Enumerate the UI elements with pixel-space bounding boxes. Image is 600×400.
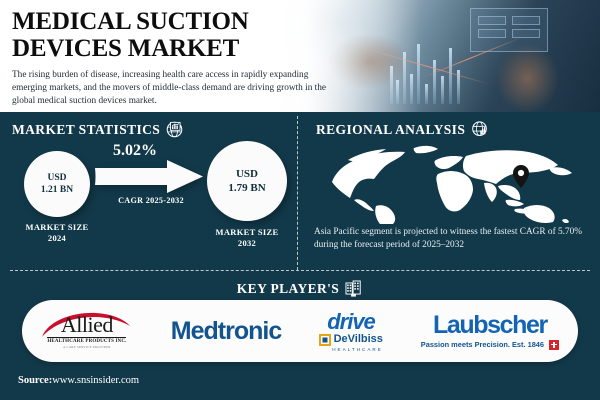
laubscher-wordmark: Laubscher	[433, 313, 547, 338]
market-size-end-caption: MARKET SIZE 2032	[197, 227, 297, 250]
start-caption-label: MARKET SIZE	[8, 222, 106, 233]
devilbiss-row: DeVilbiss	[319, 334, 383, 346]
laubscher-tagline-row: Passion meets Precision. Est. 1846	[421, 340, 559, 350]
regional-analysis-heading: REGIONAL ANALYSIS	[316, 120, 489, 139]
market-statistics-title: MARKET STATISTICS	[12, 122, 160, 138]
regional-analysis-section: REGIONAL ANALYSIS	[300, 112, 600, 272]
world-map-svg	[310, 138, 590, 224]
start-value-amount: 1.21 BN	[41, 184, 73, 196]
end-caption-year: 2032	[197, 238, 297, 249]
allied-wordmark: Allied	[61, 314, 113, 336]
header-banner: MEDICAL SUCTION DEVICES MARKET The risin…	[0, 0, 600, 112]
arrow-icon	[95, 160, 203, 194]
photo-panel	[478, 16, 506, 25]
logo-medtronic[interactable]: Medtronic	[171, 317, 281, 346]
photo-panel	[478, 29, 506, 38]
key-players-title: KEY PLAYER'S	[237, 281, 339, 297]
devilbiss-wordmark: DeVilbiss	[334, 334, 383, 345]
devilbiss-subtitle: HEALTHCARE	[332, 347, 383, 352]
laubscher-tagline: Passion meets Precision. Est. 1846	[421, 340, 544, 349]
start-caption-year: 2024	[8, 233, 106, 244]
end-value-currency: USD	[236, 167, 258, 181]
allied-subtitle: HEALTHCARE PRODUCTS INC.	[47, 337, 126, 344]
globe-chart-icon	[165, 120, 184, 139]
growth-arrow	[95, 160, 203, 194]
header-text-block: MEDICAL SUCTION DEVICES MARKET The risin…	[12, 8, 342, 109]
factory-building-icon	[344, 279, 363, 298]
photo-panel	[512, 29, 540, 38]
photo-bar	[433, 60, 436, 104]
market-size-end-circle: USD 1.79 BN	[207, 141, 287, 221]
swiss-flag-icon	[549, 340, 559, 350]
market-size-start-caption: MARKET SIZE 2024	[8, 222, 106, 245]
cagr-value: 5.02%	[100, 142, 170, 160]
page-title: MEDICAL SUCTION DEVICES MARKET	[12, 8, 342, 62]
logo-drive-devilbiss[interactable]: drive DeVilbiss HEALTHCARE	[319, 311, 383, 352]
cagr-label: CAGR 2025-2032	[92, 196, 210, 205]
photo-panel	[512, 16, 540, 25]
regional-analysis-title: REGIONAL ANALYSIS	[316, 122, 465, 138]
key-players-heading: KEY PLAYER'S	[0, 279, 600, 298]
regional-note: Asia Pacific segment is projected to wit…	[314, 226, 594, 253]
market-statistics-heading: MARKET STATISTICS	[12, 120, 184, 139]
asia-pacific-pin	[513, 165, 529, 188]
medtronic-wordmark: Medtronic	[171, 317, 281, 346]
photo-bar	[449, 48, 452, 104]
drive-wordmark: drive	[327, 311, 375, 333]
divider-vertical	[297, 116, 298, 270]
allied-subtitle-2: A CARE SERVICE PROVIDER	[63, 345, 111, 349]
source-url[interactable]: www.snsinsider.com	[52, 375, 139, 386]
world-map	[310, 138, 590, 224]
start-value-currency: USD	[47, 172, 66, 184]
devilbiss-mark-icon	[319, 334, 331, 346]
page-subtitle: The rising burden of disease, increasing…	[12, 69, 330, 109]
photo-bar	[425, 84, 428, 104]
source-label: Source:	[18, 375, 52, 386]
end-value-amount: 1.79 BN	[228, 181, 265, 195]
logo-laubscher[interactable]: Laubscher Passion meets Precision. Est. …	[421, 313, 559, 350]
market-size-start-circle: USD 1.21 BN	[24, 151, 90, 217]
key-players-card: Allied HEALTHCARE PRODUCTS INC. A CARE S…	[22, 300, 578, 362]
photo-bar	[441, 76, 444, 104]
end-caption-label: MARKET SIZE	[197, 227, 297, 238]
market-statistics-section: MARKET STATISTICS USD 1.21 BN MARKET SIZ…	[0, 112, 290, 272]
logo-allied-healthcare-products[interactable]: Allied HEALTHCARE PRODUCTS INC. A CARE S…	[41, 314, 133, 349]
globe-icon	[470, 120, 489, 139]
source-footer: Source:www.snsinsider.com	[18, 375, 139, 386]
